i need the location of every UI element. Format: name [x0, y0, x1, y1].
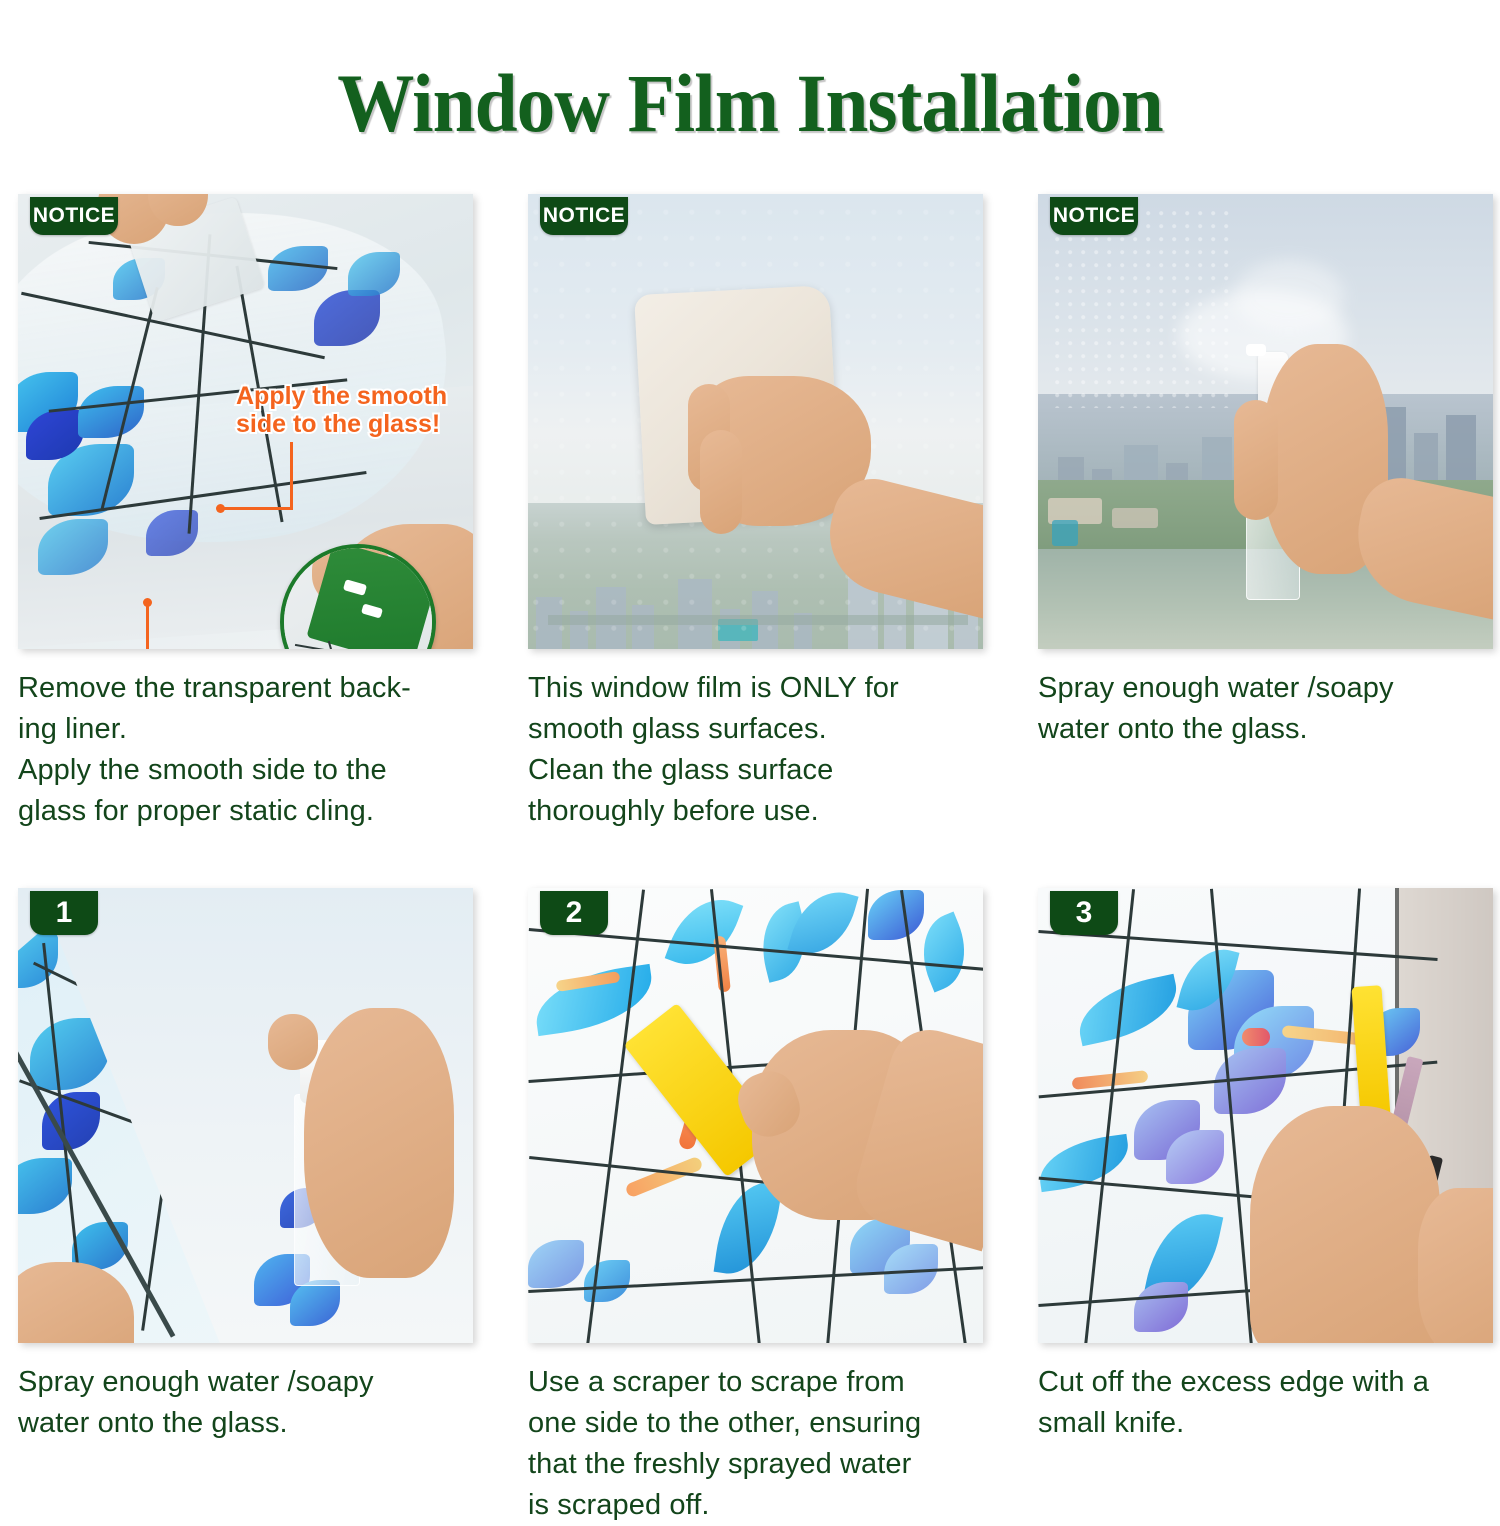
caption-3: Spray enough water /soapy water onto the… [1038, 668, 1493, 750]
badge-notice-2: NOTICE [540, 197, 628, 235]
caption-2: This window film is ONLY for smooth glas… [528, 668, 983, 833]
badge-notice-1: NOTICE [30, 197, 118, 235]
annotation-apply-smooth-side: Apply the smooth side to the glass! [236, 382, 447, 438]
badge-step-2: 2 [540, 891, 608, 935]
zoom-inset-liner-corner [280, 544, 436, 649]
badge-step-3: 3 [1050, 891, 1118, 935]
photo-film-roll-backing-liner: Apply the smooth side to the glass! [18, 194, 473, 649]
leader-line-vertical-2 [146, 602, 149, 649]
photo-hand-spraying-water: NOTICE [1038, 194, 1493, 649]
caption-5: Use a scraper to scrape from one side to… [528, 1362, 983, 1526]
second-hand [1418, 1188, 1493, 1343]
photo-scraping-film: 2 [528, 888, 983, 1343]
caption-6: Cut off the excess edge with a small kni… [1038, 1362, 1493, 1444]
instruction-card-1: Apply the smooth side to the glass! [18, 194, 473, 833]
badge-notice-3: NOTICE [1050, 197, 1138, 235]
instruction-card-5: 2 Use a scraper to scrape from one side … [528, 888, 983, 1526]
caption-4: Spray enough water /soapy water onto the… [18, 1362, 473, 1444]
caption-1: Remove the transparent back- ing liner. … [18, 668, 473, 833]
page-title: Window Film Installation [53, 56, 1448, 145]
leader-line-horizontal-1 [221, 507, 293, 510]
instruction-card-4: 1 Spray enough water /soapy water onto t… [18, 888, 473, 1526]
leader-dot-2 [143, 598, 152, 607]
instruction-card-6: 3 Cut off the excess edge with a small k… [1038, 888, 1493, 1526]
leader-dot-1 [216, 504, 225, 513]
instruction-grid-row-2: 1 Spray enough water /soapy water onto t… [0, 888, 1500, 1526]
condensation-droplets [1052, 208, 1232, 408]
instruction-card-3: NOTICE Spray enough water /soapy water o… [1038, 194, 1493, 833]
leader-line-vertical-1 [290, 442, 293, 510]
photo-cutting-excess-edge: 3 [1038, 888, 1493, 1343]
hand [1250, 1106, 1440, 1343]
instruction-card-2: NOTICE This window film is ONLY for smoo… [528, 194, 983, 833]
window-film-installation-infographic: Window Film Installation [0, 56, 1500, 1520]
photo-applying-film-with-spray: 1 [18, 888, 473, 1343]
photo-hand-wiping-glass: NOTICE [528, 194, 983, 649]
hand-right [304, 1008, 454, 1278]
badge-step-1: 1 [30, 891, 98, 935]
instruction-grid-row-1: Apply the smooth side to the glass! [0, 194, 1500, 833]
